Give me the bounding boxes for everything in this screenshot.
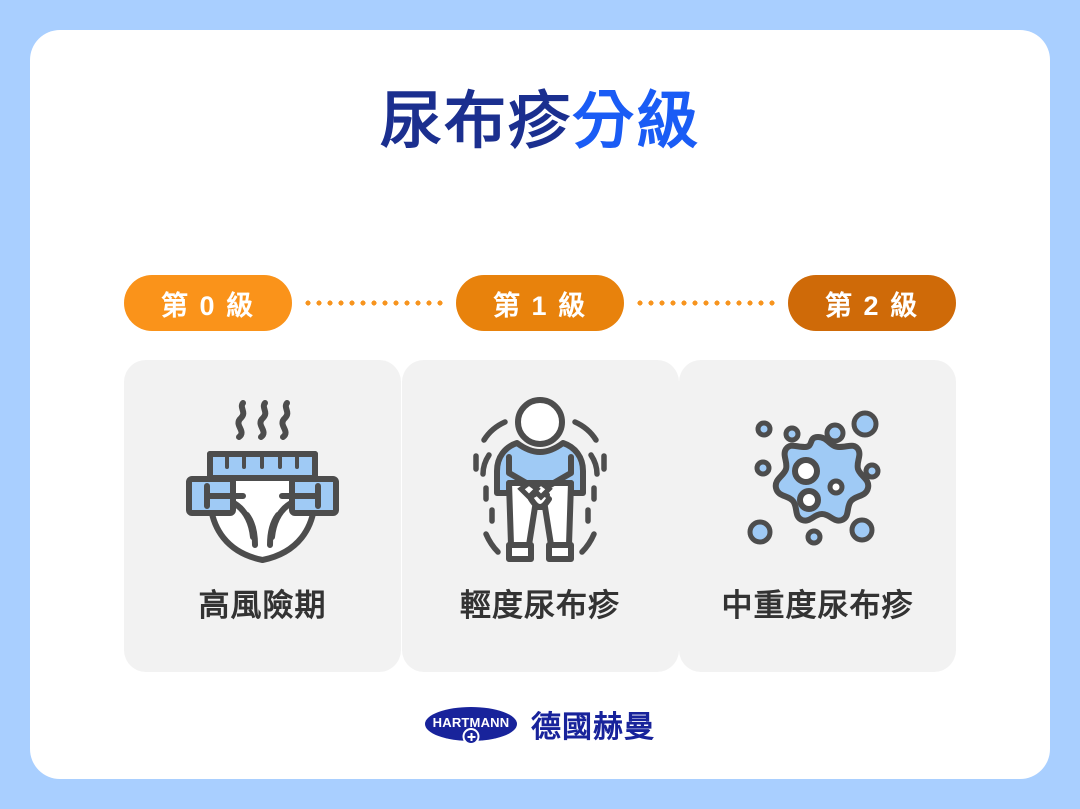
severity-card-0-label: 高風險期	[199, 580, 327, 625]
stage-pill-0-label: 第 0 級	[161, 284, 255, 323]
stage-pill-2[interactable]: 第 2 級	[788, 275, 956, 331]
brand-footer: HARTMANN 德國赫曼	[30, 702, 1050, 746]
stage-pill-2-label: 第 2 級	[825, 284, 919, 323]
germ-cluster-icon	[738, 396, 898, 566]
page-title-segment-dark: 尿布疹	[380, 87, 572, 156]
severity-card-2-label: 中重度尿布疹	[722, 580, 914, 625]
stage-pill-0[interactable]: 第 0 級	[124, 275, 292, 331]
hartmann-logo-icon: HARTMANN	[425, 707, 517, 741]
severity-card-list: 高風險期	[124, 360, 956, 672]
stage-progression: 第 0 級 第 1 級 第 2 級	[124, 275, 956, 331]
stage-connector-0-1	[300, 300, 448, 306]
severity-card-1-label: 輕度尿布疹	[460, 580, 620, 625]
logo-plus-icon	[463, 728, 480, 745]
page-title-segment-bright: 分級	[572, 87, 700, 156]
severity-card-1[interactable]: 輕度尿布疹	[402, 360, 679, 672]
severity-card-0[interactable]: 高風險期	[124, 360, 401, 672]
stage-connector-1-2	[632, 300, 780, 306]
severity-card-2[interactable]: 中重度尿布疹	[679, 360, 956, 672]
person-discomfort-icon	[465, 396, 615, 566]
page-title: 尿布疹分級	[30, 88, 1050, 156]
stage-pill-1-label: 第 1 級	[493, 284, 587, 323]
main-card: 尿布疹分級 第 0 級 第 1 級 第 2 級	[30, 30, 1050, 779]
stage-pill-1[interactable]: 第 1 級	[456, 275, 624, 331]
diaper-heat-icon	[185, 396, 340, 566]
brand-name: 德國赫曼	[531, 702, 655, 746]
